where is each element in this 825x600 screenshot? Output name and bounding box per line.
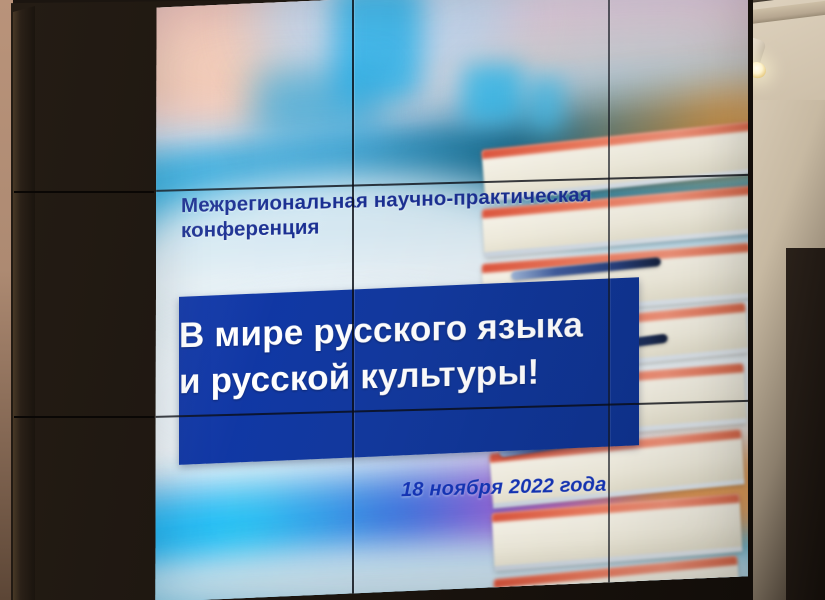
videowall-seam-glint-2: [610, 0, 611, 600]
videowall-seam-glint-1: [354, 0, 355, 600]
bezel-seam-lower: [14, 416, 154, 418]
bezel-left-ridge: [13, 0, 35, 600]
videowall-screen: Межрегиональная научно-практическая конф…: [153, 0, 748, 600]
slide-title: В мире русского языка и русской культуры…: [179, 301, 649, 405]
photo-scene: Межрегиональная научно-практическая конф…: [0, 0, 825, 600]
right-wall-shadow: [786, 248, 825, 600]
bg-blob-cyan-left: [253, 67, 383, 141]
bezel-seam-upper: [14, 191, 154, 193]
